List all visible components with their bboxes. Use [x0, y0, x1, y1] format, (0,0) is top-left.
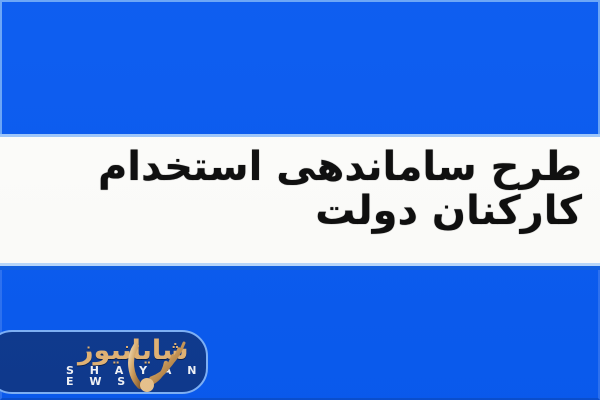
news-banner: طرح ساماندهی استخدام کارکنان دولت شایانی…: [0, 0, 600, 400]
top-blue-band: [0, 0, 600, 136]
bottom-band-hairline: [0, 266, 600, 270]
headline-line-2: کارکنان دولت: [18, 190, 582, 232]
signal-waves-icon: [126, 336, 190, 394]
headline-line-1: طرح ساماندهی استخدام: [18, 146, 582, 188]
shayanews-logo-watermark: شایانیوز S H A Y A N E W S: [0, 330, 208, 394]
headline-text-block: طرح ساماندهی استخدام کارکنان دولت: [18, 146, 582, 233]
